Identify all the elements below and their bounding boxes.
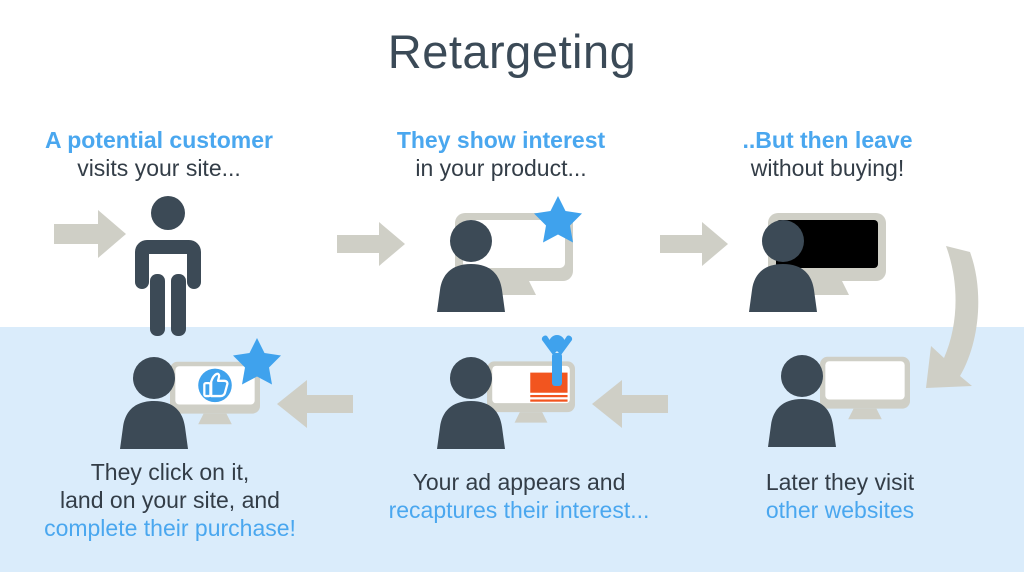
- arrow-right-icon: [54, 210, 126, 258]
- step-2-caption-line-2: in your product...: [415, 155, 586, 181]
- arrow-right-icon: [337, 222, 405, 266]
- step-4-caption-line-2: other websites: [766, 497, 914, 523]
- step-5-celebration: [537, 334, 577, 386]
- step-3-to-4-connector: [918, 246, 998, 394]
- arrow-right-icon: [660, 222, 728, 266]
- step-1-arrow: [54, 210, 126, 258]
- step-5-caption-line-1: Your ad appears and: [413, 469, 626, 495]
- step-5-caption: Your ad appears and recaptures their int…: [360, 468, 678, 524]
- arrow-left-icon: [277, 380, 353, 428]
- step-2-caption-line-1: They show interest: [397, 127, 605, 153]
- curved-arrow-down-icon: [918, 246, 998, 394]
- step-3-person: [746, 220, 820, 300]
- step-3-arrow: [660, 222, 728, 266]
- step-2-person: [434, 220, 508, 300]
- step-1-person: [133, 196, 203, 336]
- step-1-caption-line-2: visits your site...: [77, 155, 241, 181]
- step-4-caption-line-1: Later they visit: [766, 469, 914, 495]
- person-bust-icon: [434, 220, 508, 300]
- step-2-caption: They show interest in your product...: [345, 126, 657, 182]
- step-2-star: [533, 196, 583, 244]
- step-3-caption-line-2: without buying!: [751, 155, 904, 181]
- step-3-caption-line-1: ..But then leave: [743, 127, 913, 153]
- arrow-left-icon: [592, 380, 668, 428]
- retargeting-infographic: Retargeting A potential customer visits …: [0, 0, 1024, 572]
- star-icon: [232, 338, 282, 386]
- step-6-arrow: [277, 380, 353, 428]
- step-1-caption-line-1: A potential customer: [45, 127, 273, 153]
- step-6-caption-line-2: land on your site, and: [60, 487, 280, 513]
- step-6-person: [117, 357, 191, 437]
- step-5-caption-line-2: recaptures their interest...: [389, 497, 650, 523]
- step-6-caption: They click on it, land on your site, and…: [10, 458, 330, 542]
- step-6-star: [232, 338, 282, 386]
- step-3-caption: ..But then leave without buying!: [690, 126, 965, 182]
- step-5-arrow: [592, 380, 668, 428]
- step-4-caption: Later they visit other websites: [715, 468, 965, 524]
- star-icon: [533, 196, 583, 244]
- person-bust-icon: [434, 357, 508, 437]
- page-title: Retargeting: [0, 26, 1024, 78]
- standing-person-icon: [133, 196, 203, 336]
- step-1-caption: A potential customer visits your site...: [0, 126, 318, 182]
- step-2-arrow: [337, 222, 405, 266]
- person-bust-icon: [746, 220, 820, 300]
- person-bust-icon: [117, 357, 191, 437]
- step-5-person: [434, 357, 508, 437]
- celebrating-person-icon: [537, 334, 577, 386]
- step-6-caption-line-1: They click on it,: [91, 459, 250, 485]
- person-bust-icon: [765, 355, 839, 435]
- step-4-person: [765, 355, 839, 435]
- step-6-caption-line-3: complete their purchase!: [44, 515, 296, 541]
